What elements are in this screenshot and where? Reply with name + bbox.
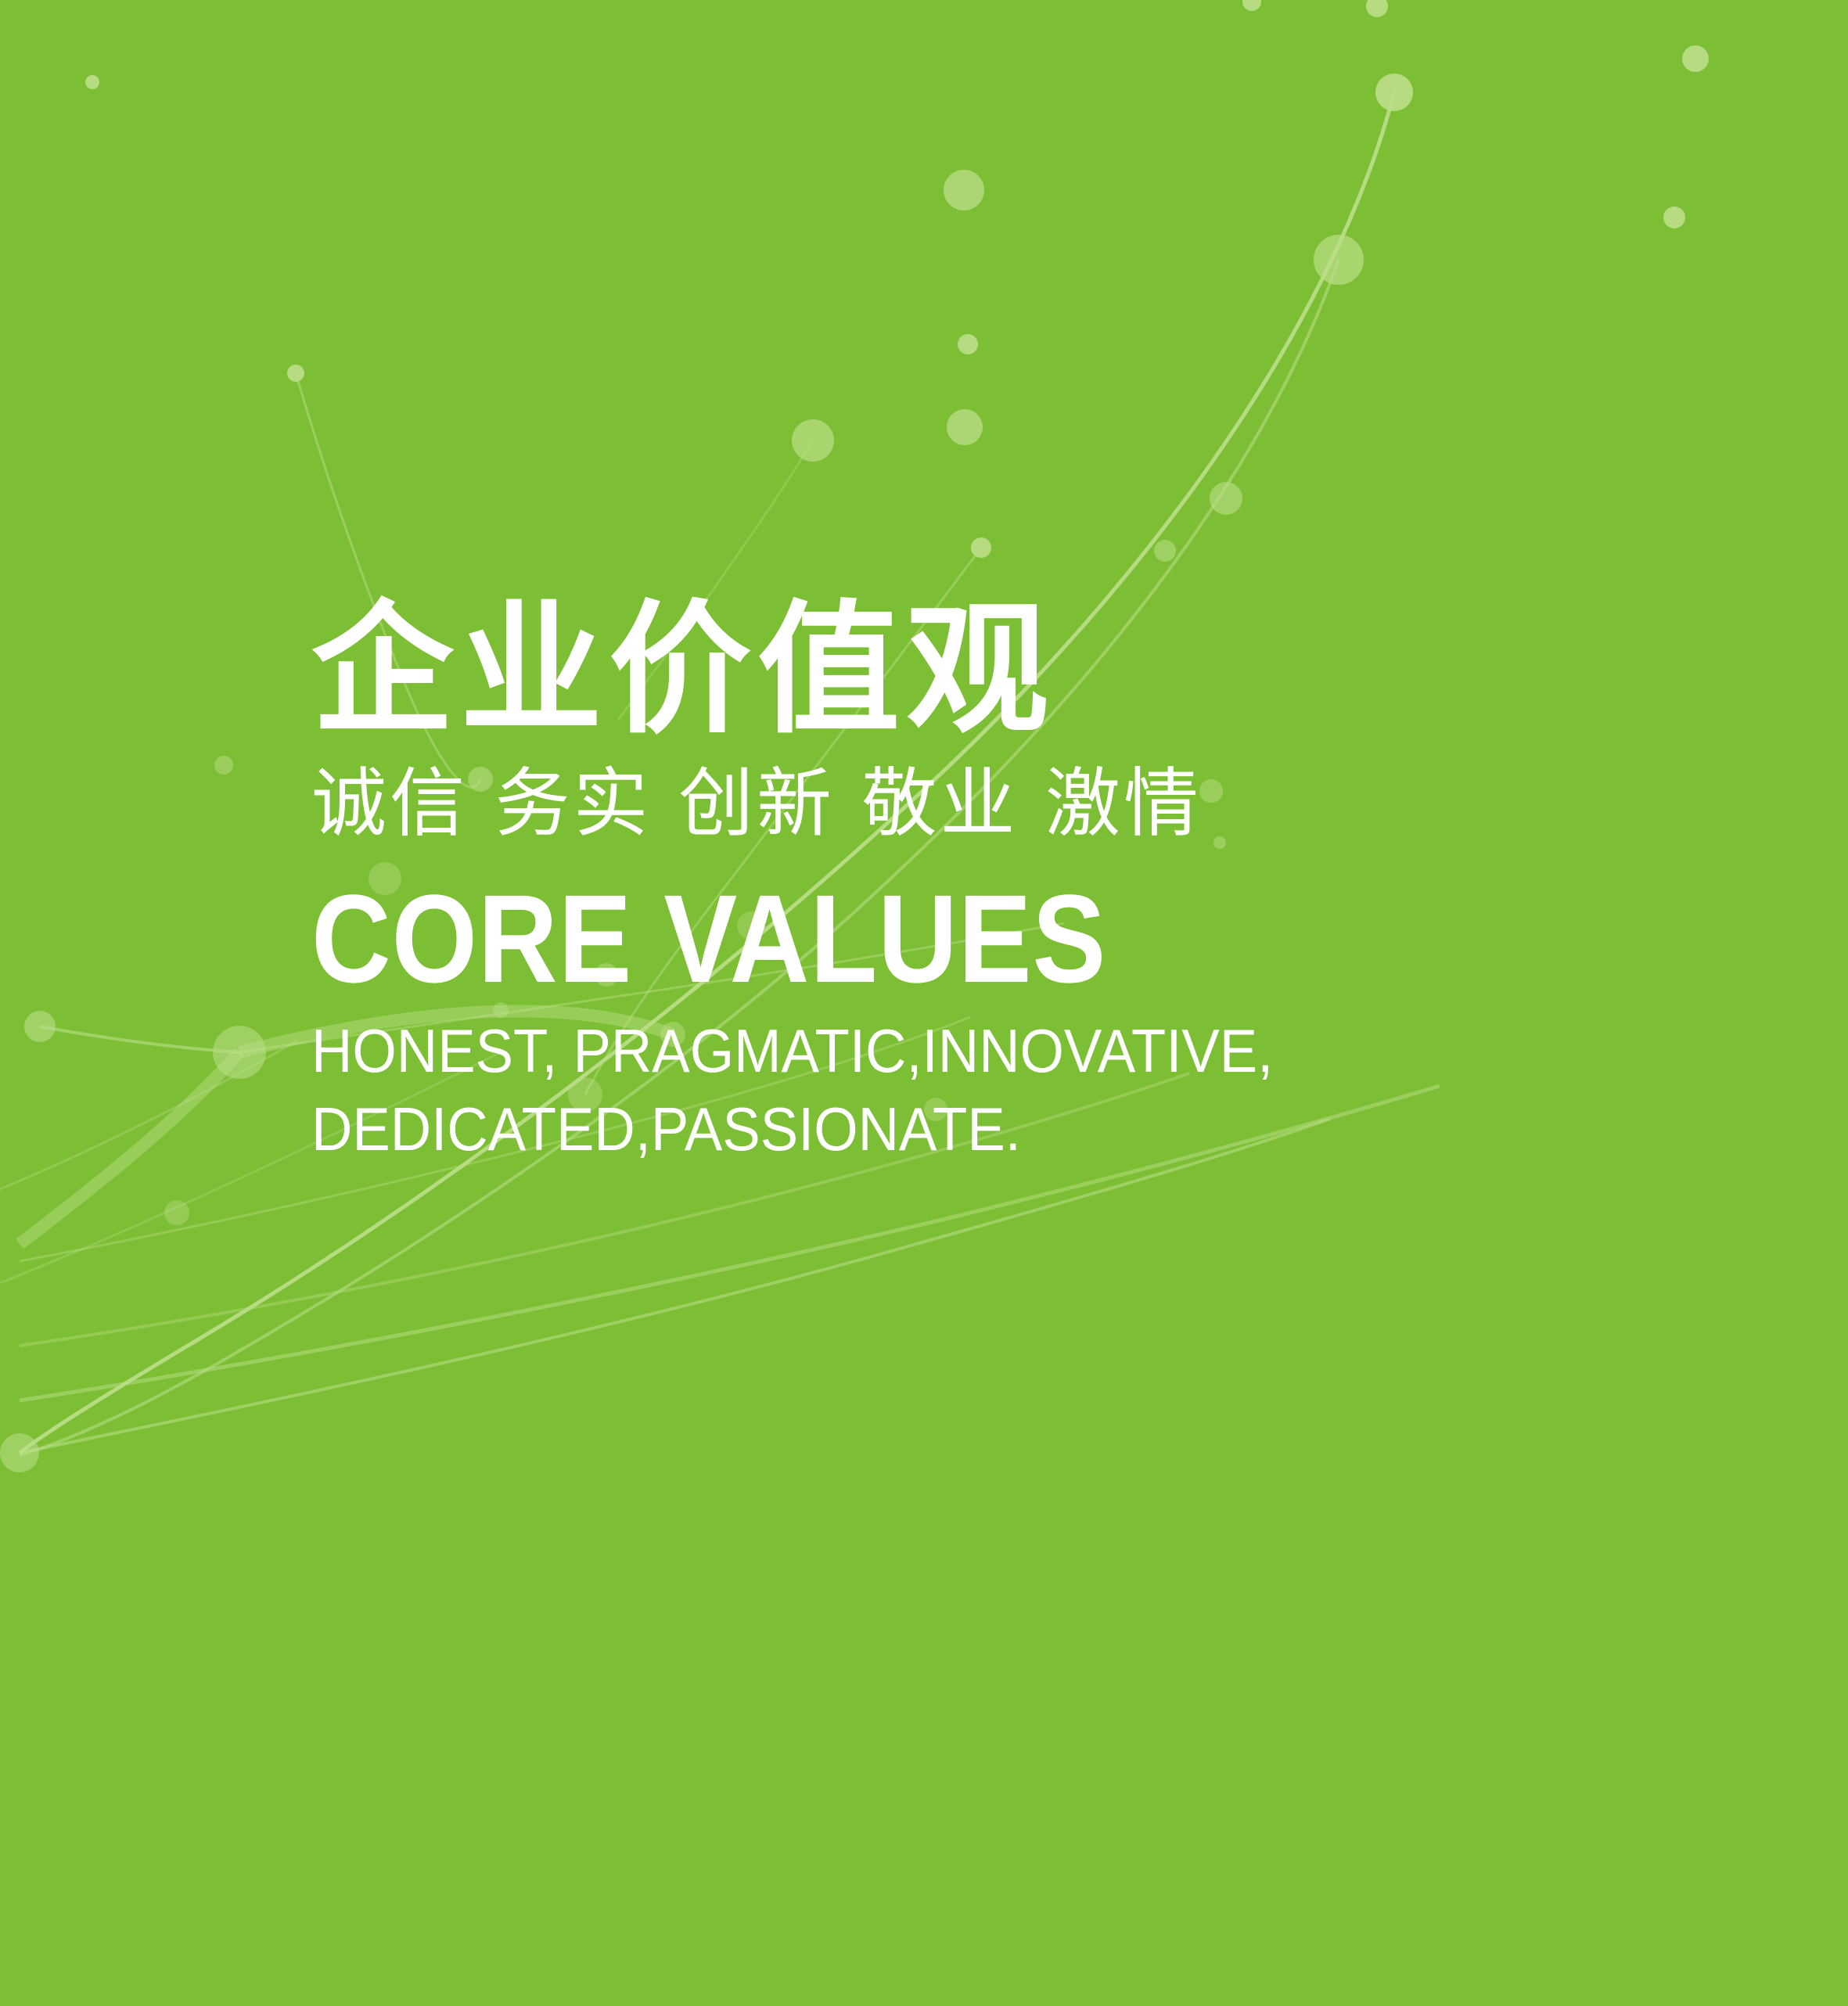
poster-canvas: 企业价值观 诚信 务实 创新 敬业 激情 CORE VALUES HONEST,…	[0, 0, 1848, 2006]
english-subtitle-line-2: DEDICATED,PASSIONATE.	[311, 1091, 1621, 1169]
english-subtitle-line-1: HONEST, PRAGMATIC,INNOVATIVE,	[311, 1012, 1621, 1091]
english-subtitle: HONEST, PRAGMATIC,INNOVATIVE, DEDICATED,…	[311, 1012, 1621, 1169]
headline-block: 企业价值观 诚信 务实 创新 敬业 激情 CORE VALUES HONEST,…	[311, 595, 1720, 1169]
english-title: CORE VALUES	[311, 876, 1551, 1001]
chinese-title: 企业价值观	[311, 595, 1720, 746]
chinese-subtitle: 诚信 务实 创新 敬业 激情	[311, 760, 1720, 848]
